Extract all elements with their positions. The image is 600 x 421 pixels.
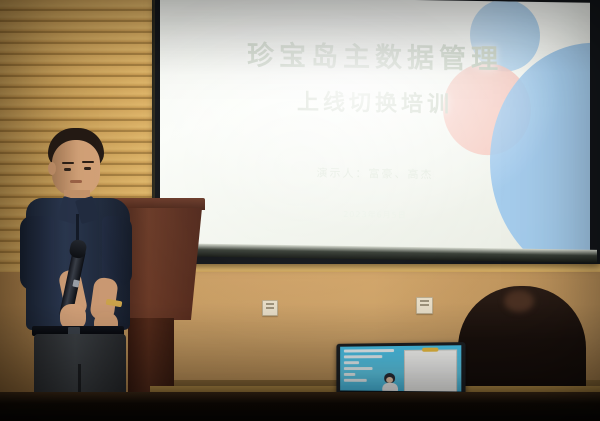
presenter-head-shading (52, 140, 100, 196)
presenter-eye-right (84, 167, 91, 170)
projection-screen-surface: 珍宝岛主数据管理 上线切换培训 演示人：富豪、高杰 2023年6月5日 (160, 0, 590, 255)
slide-text-block: 珍宝岛主数据管理 上线切换培训 演示人：富豪、高杰 2023年6月5日 (160, 0, 590, 255)
slide-title: 珍宝岛主数据管理 (160, 32, 590, 78)
laptop-screen[interactable] (340, 345, 461, 396)
presenter-mouth (70, 180, 82, 183)
wall-plate-right (416, 297, 433, 314)
presenter-sleeve-left (20, 216, 54, 290)
presenter (10, 128, 140, 421)
audience-hair-part (504, 290, 534, 312)
presenter-brow-right (82, 161, 94, 163)
presenter-ear (48, 162, 56, 175)
presenter-brow-left (62, 162, 74, 164)
slide-date: 2023年6月5日 (160, 206, 590, 224)
laptop-document-panel (404, 349, 457, 393)
presenter-eye-left (64, 168, 71, 171)
wall-plate-left (262, 300, 278, 316)
laptop-document-clip-icon (422, 348, 438, 352)
presenter-sleeve-right (102, 216, 132, 286)
slide-presenter-line: 演示人：富豪、高杰 (160, 162, 590, 185)
foreground-desk (0, 392, 600, 421)
slide-subtitle: 上线切换培训 (160, 82, 590, 121)
screenshot-root: 珍宝岛主数据管理 上线切换培训 演示人：富豪、高杰 2023年6月5日 (0, 0, 600, 421)
